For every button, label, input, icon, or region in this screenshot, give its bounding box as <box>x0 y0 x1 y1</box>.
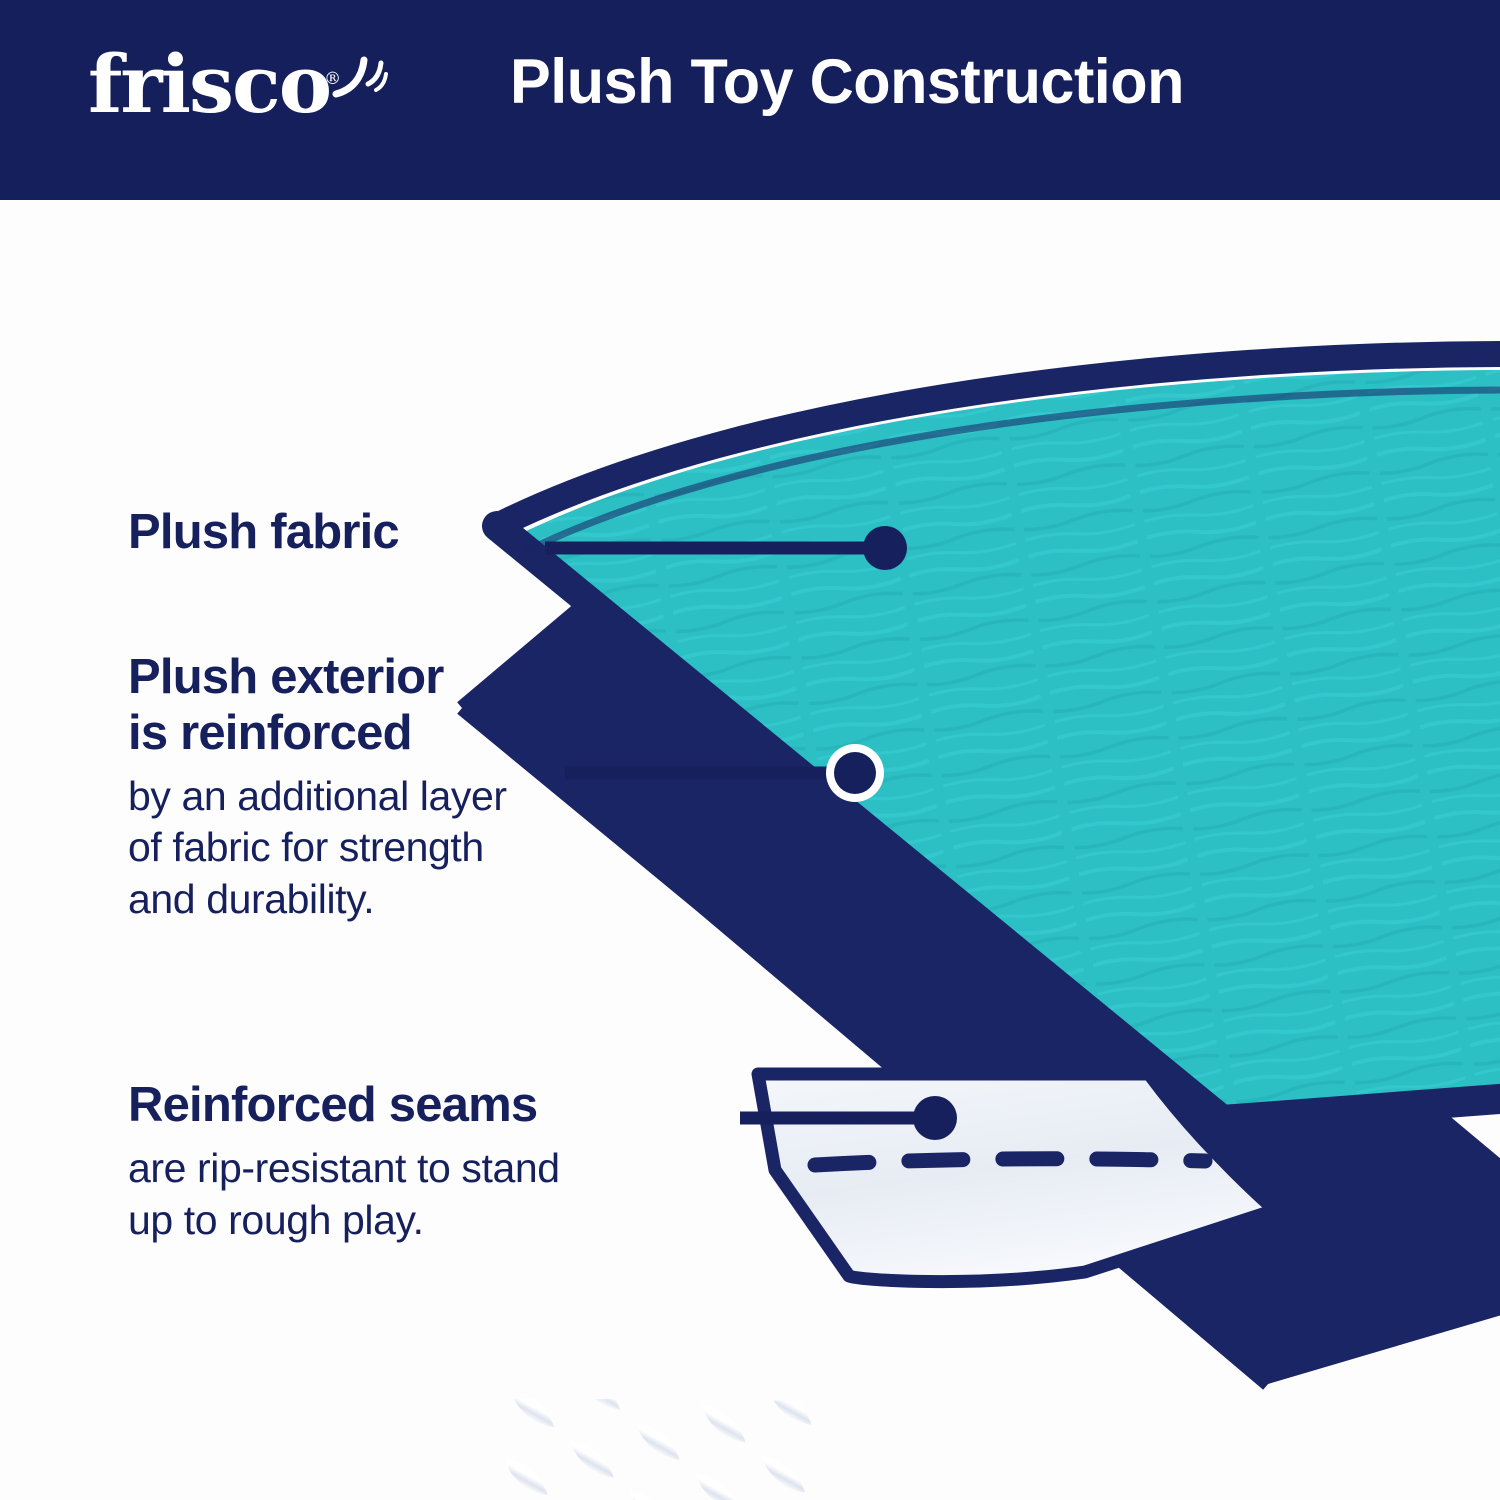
callout-body: are rip-resistant to stand up to rough p… <box>128 1143 560 1246</box>
callout-heading: Reinforced seams <box>128 1078 560 1134</box>
leader-dot-reinforced-seams <box>913 1096 957 1140</box>
callout-reinforced-seams: Reinforced seams are rip-resistant to st… <box>128 1078 560 1246</box>
registered-trademark-icon: ® <box>324 69 339 89</box>
header-bar: frisco® Plush Toy Construction <box>0 0 1500 200</box>
callout-heading: Plush exterior is reinforced <box>128 650 507 762</box>
callout-body: by an additional layer of fabric for str… <box>128 771 507 926</box>
callout-heading: Plush fabric <box>128 505 399 561</box>
page-title: Plush Toy Construction <box>510 46 1184 118</box>
stitch-dashed-line <box>815 1159 1205 1165</box>
callout-plush-fabric: Plush fabric <box>128 505 399 561</box>
infographic-page: frisco® Plush Toy Construction <box>0 0 1500 1500</box>
frisco-logo: frisco® <box>88 44 339 124</box>
frisco-swash-icon <box>332 54 392 104</box>
callout-plush-exterior-reinforced: Plush exterior is reinforced by an addit… <box>128 650 507 926</box>
leader-dot-plush-fabric <box>863 526 907 570</box>
frisco-logo-text: frisco <box>88 37 330 131</box>
leader-dot-reinforced-exterior <box>834 752 876 794</box>
